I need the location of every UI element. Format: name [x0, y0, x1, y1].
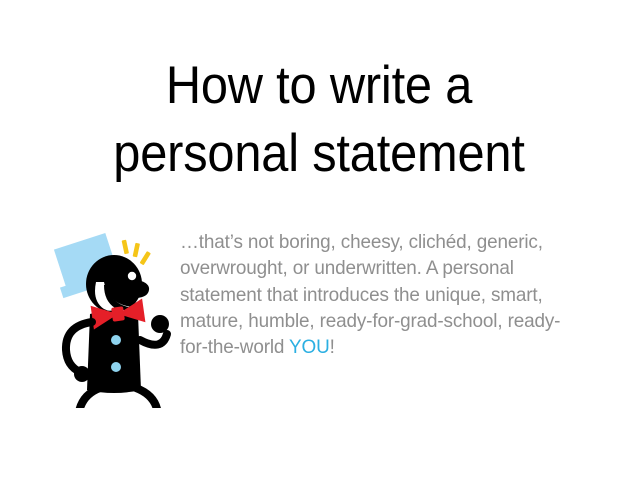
eye-shape: [128, 272, 136, 280]
dancing-stick-figure-icon: [48, 222, 174, 408]
right-fist-shape: [151, 315, 169, 333]
body-paragraph: …that’s not boring, cheesy, clichéd, gen…: [180, 229, 568, 360]
nose-shape: [137, 280, 149, 298]
button-upper: [111, 335, 121, 345]
button-lower: [111, 362, 121, 372]
right-leg-shape: [136, 388, 158, 408]
body-text-leading: …that’s not boring, cheesy, clichéd, gen…: [180, 231, 560, 358]
left-fist-shape: [74, 366, 90, 382]
page-title: How to write a personal statement: [0, 52, 638, 188]
slide-canvas: How to write a personal statement: [0, 0, 638, 479]
title-line-2: personal statement: [26, 120, 613, 188]
left-leg-shape: [78, 388, 100, 408]
body-paragraph-container: …that’s not boring, cheesy, clichéd, gen…: [180, 229, 580, 360]
right-arm-shape: [140, 334, 167, 345]
accent-word-you: YOU: [289, 336, 330, 358]
title-line-1: How to write a: [26, 52, 613, 120]
body-text-trailing: !: [330, 336, 335, 358]
